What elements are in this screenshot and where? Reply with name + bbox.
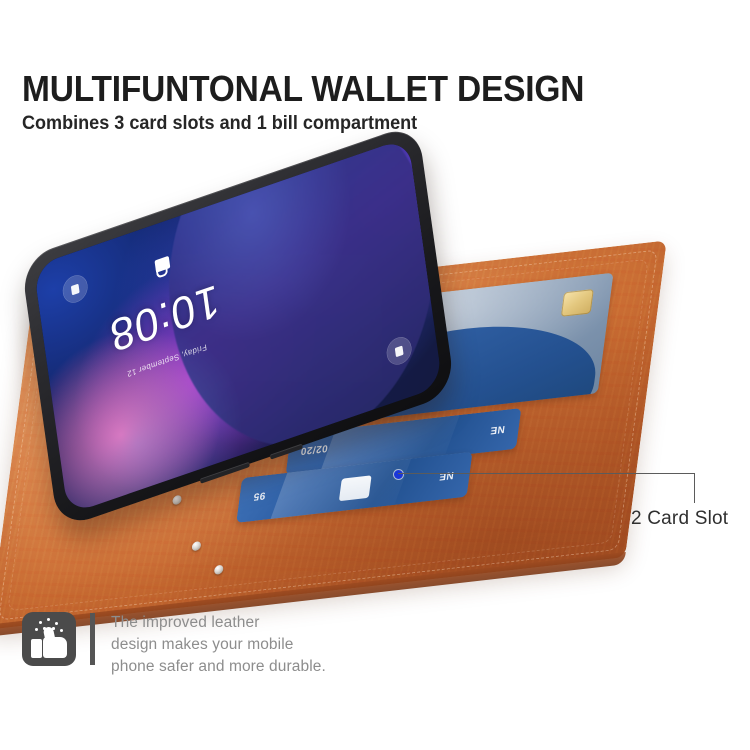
card-edge-text: NE <box>489 423 505 436</box>
feature-block: The improved leather design makes your m… <box>22 612 326 678</box>
page-title: MULTIFUNTONAL WALLET DESIGN <box>22 68 584 110</box>
callout-leader-horizontal <box>398 473 695 474</box>
thumbs-up-icon <box>22 612 76 666</box>
feature-line-3: phone safer and more durable. <box>111 656 326 678</box>
feature-line-1: The improved leather <box>111 612 326 634</box>
lock-icon <box>154 256 170 273</box>
card-edge-text: NE <box>438 469 454 482</box>
feature-line-2: design makes your mobile <box>111 634 326 656</box>
callout-marker-dot <box>394 470 403 479</box>
card-edge-highlight <box>339 476 372 502</box>
card-chip-icon <box>561 289 594 317</box>
page-subtitle: Combines 3 card slots and 1 bill compart… <box>22 112 417 136</box>
callout-leader-vertical <box>694 473 695 503</box>
feature-text: The improved leather design makes your m… <box>111 612 326 678</box>
callout-label: 2 Card Slot <box>631 508 728 530</box>
product-banner: MULTIFUNTONAL WALLET DESIGN Combines 3 c… <box>0 0 750 750</box>
thumb-glyph <box>31 632 67 658</box>
card-edge-text: 95 <box>253 489 267 502</box>
feature-divider <box>90 613 95 665</box>
